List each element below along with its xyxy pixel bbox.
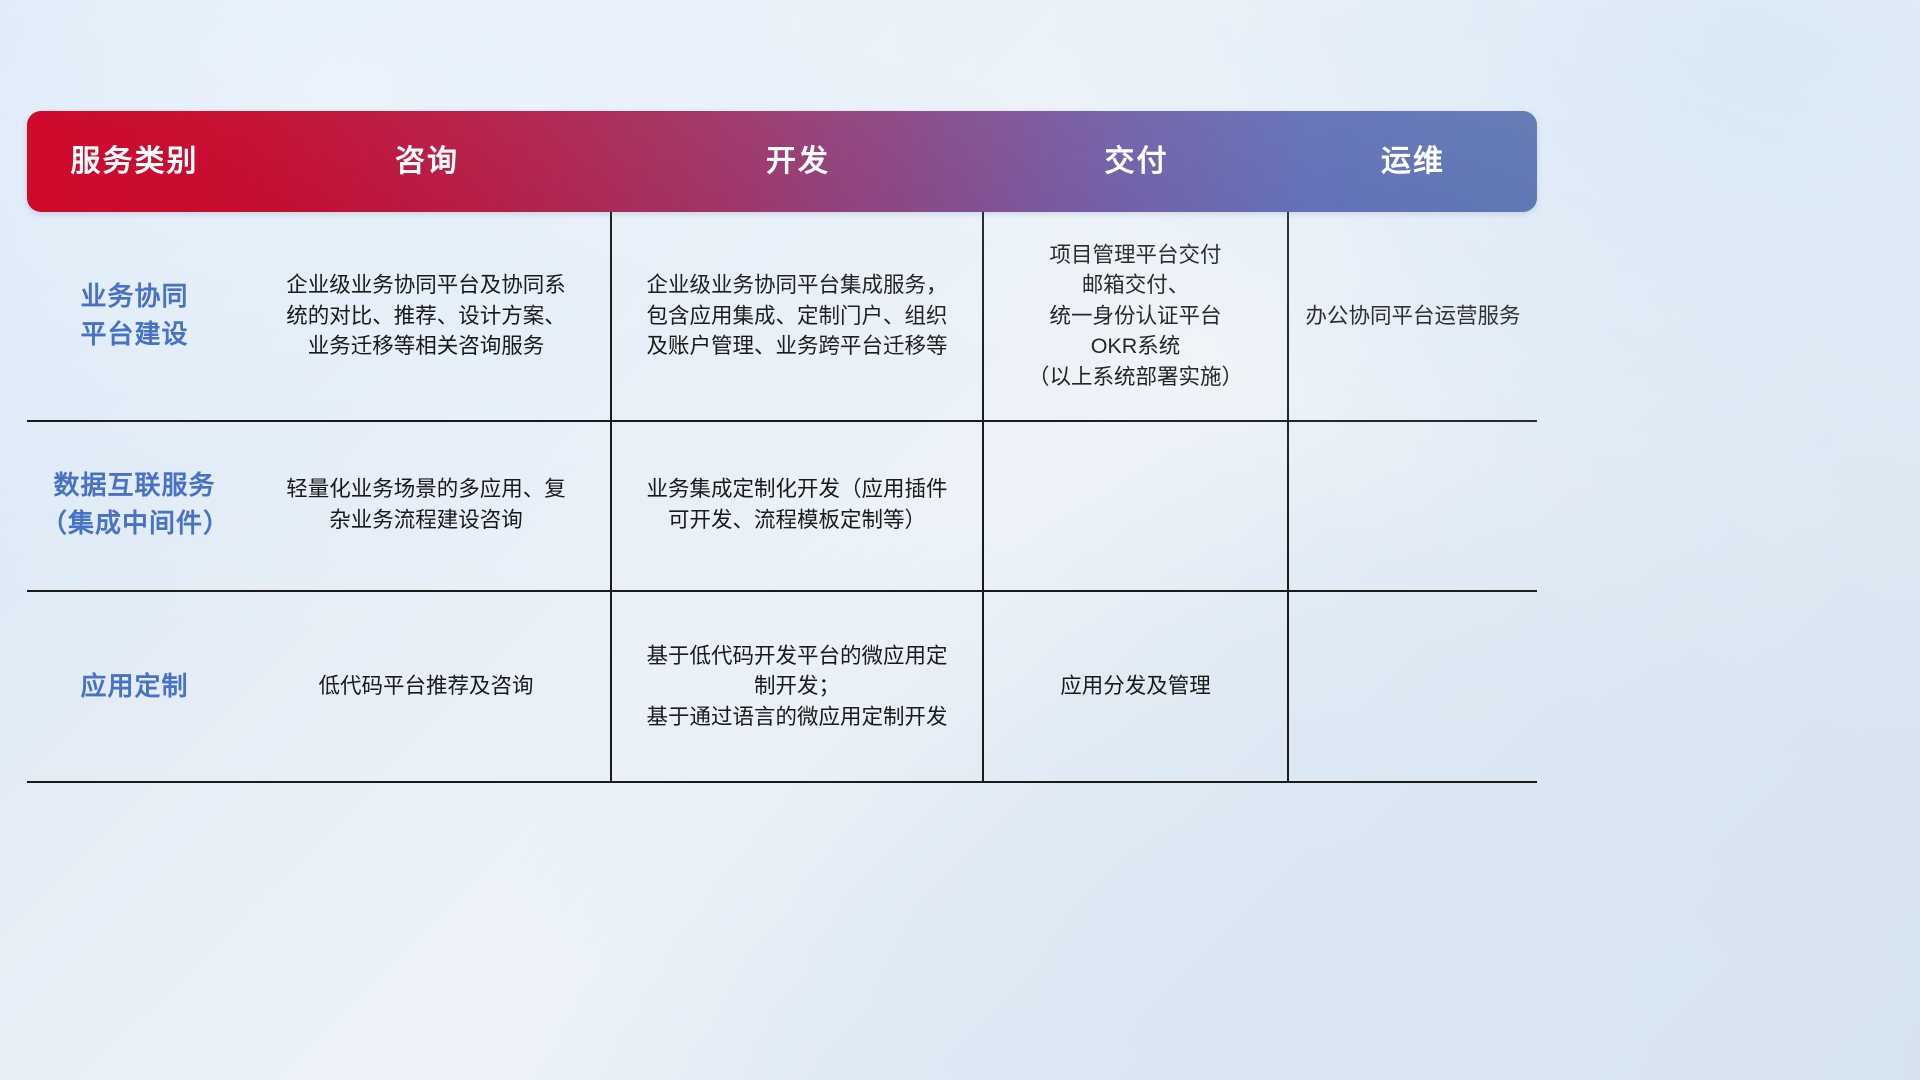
table-header-row: 服务类别 咨询 开发 交付 运维 [27,111,1537,212]
column-header-operations: 运维 [1289,111,1537,212]
column-header-consulting: 咨询 [242,111,612,212]
cell-consulting: 企业级业务协同平台及协同系 统的对比、推荐、设计方案、 业务迁移等相关咨询服务 [242,212,612,420]
cell-development: 业务集成定制化开发（应用插件 可开发、流程模板定制等） [612,420,984,590]
cell-operations: 办公协同平台运营服务 [1289,212,1537,420]
slide-canvas: 服务类别 咨询 开发 交付 运维 业务协同 平台建设 企业级业务协同平台及协同系… [0,0,1920,1080]
cell-operations [1289,590,1537,783]
cell-consulting: 低代码平台推荐及咨询 [242,590,612,783]
cell-consulting: 轻量化业务场景的多应用、复 杂业务流程建设咨询 [242,420,612,590]
table-row: 业务协同 平台建设 企业级业务协同平台及协同系 统的对比、推荐、设计方案、 业务… [27,212,1537,420]
cell-delivery [984,420,1289,590]
column-header-label: 运维 [1381,147,1445,177]
table-body: 业务协同 平台建设 企业级业务协同平台及协同系 统的对比、推荐、设计方案、 业务… [27,212,1537,783]
column-header-development: 开发 [612,111,984,212]
column-header-label: 开发 [766,147,830,177]
row-category-label: 数据互联服务 （集成中间件） [27,420,242,590]
table-row: 数据互联服务 （集成中间件） 轻量化业务场景的多应用、复 杂业务流程建设咨询 业… [27,420,1537,590]
cell-development: 企业级业务协同平台集成服务， 包含应用集成、定制门户、组织 及账户管理、业务跨平… [612,212,984,420]
row-category-label: 业务协同 平台建设 [27,212,242,420]
cell-operations [1289,420,1537,590]
column-header-label: 交付 [1105,147,1169,177]
cell-delivery: 应用分发及管理 [984,590,1289,783]
cell-development: 基于低代码开发平台的微应用定 制开发； 基于通过语言的微应用定制开发 [612,590,984,783]
column-header-label: 咨询 [395,147,459,177]
service-category-table: 服务类别 咨询 开发 交付 运维 业务协同 平台建设 企业级业务协同平台及协同系… [27,111,1537,783]
column-header-delivery: 交付 [984,111,1289,212]
row-category-label: 应用定制 [27,590,242,783]
column-header-service-category: 服务类别 [27,111,242,212]
table-row: 应用定制 低代码平台推荐及咨询 基于低代码开发平台的微应用定 制开发； 基于通过… [27,590,1537,783]
column-header-label: 服务类别 [71,147,199,177]
cell-delivery: 项目管理平台交付 邮箱交付、 统一身份认证平台 OKR系统 （以上系统部署实施） [984,212,1289,420]
